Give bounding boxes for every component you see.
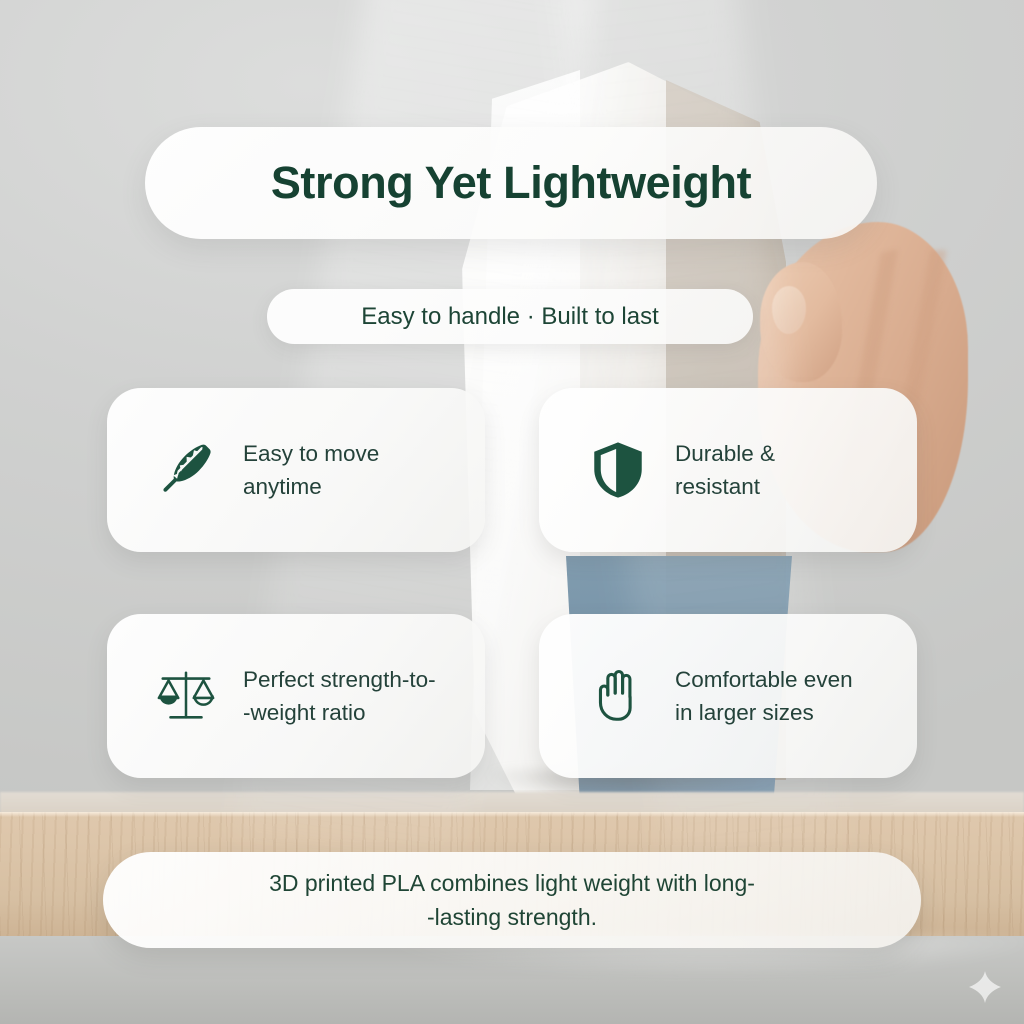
shield-icon — [587, 439, 649, 501]
feature-label-line2: resistant — [675, 474, 760, 499]
feature-label: Durable & resistant — [675, 437, 775, 503]
subtitle-banner: Easy to handle · Built to last — [267, 289, 753, 344]
feature-card-easy-to-move[interactable]: Easy to move anytime — [107, 388, 485, 552]
footer-line2: -lasting strength. — [427, 904, 597, 930]
feature-label-line1: Perfect strength-to- — [243, 667, 436, 692]
feature-card-strength-to-weight[interactable]: Perfect strength-to- -weight ratio — [107, 614, 485, 778]
feature-label-line2: -weight ratio — [243, 700, 366, 725]
title-banner: Strong Yet Lightweight — [145, 127, 877, 239]
sparkle-icon — [968, 970, 1002, 1004]
open-hand-icon — [587, 665, 649, 727]
footer-banner: 3D printed PLA combines light weight wit… — [103, 852, 921, 948]
promo-graphic: Strong Yet Lightweight Easy to handle · … — [0, 0, 1024, 1024]
feature-label-line1: Easy to move — [243, 441, 379, 466]
feature-card-grid: Easy to move anytime Durable & resistant — [107, 388, 917, 778]
page-subtitle: Easy to handle · Built to last — [361, 303, 659, 331]
feature-label-line2: in larger sizes — [675, 700, 814, 725]
feature-label: Perfect strength-to- -weight ratio — [243, 663, 436, 729]
feature-label-line1: Comfortable even — [675, 667, 853, 692]
feature-card-durable[interactable]: Durable & resistant — [539, 388, 917, 552]
feature-label-line2: anytime — [243, 474, 322, 499]
page-title: Strong Yet Lightweight — [271, 157, 751, 209]
feature-card-comfortable[interactable]: Comfortable even in larger sizes — [539, 614, 917, 778]
footer-description: 3D printed PLA combines light weight wit… — [269, 866, 755, 934]
feather-icon — [155, 439, 217, 501]
balance-scale-icon — [155, 665, 217, 727]
feature-label-line1: Durable & — [675, 441, 775, 466]
overlay-content: Strong Yet Lightweight Easy to handle · … — [0, 0, 1024, 1024]
feature-label: Easy to move anytime — [243, 437, 379, 503]
feature-label: Comfortable even in larger sizes — [675, 663, 853, 729]
footer-line1: 3D printed PLA combines light weight wit… — [269, 870, 755, 896]
